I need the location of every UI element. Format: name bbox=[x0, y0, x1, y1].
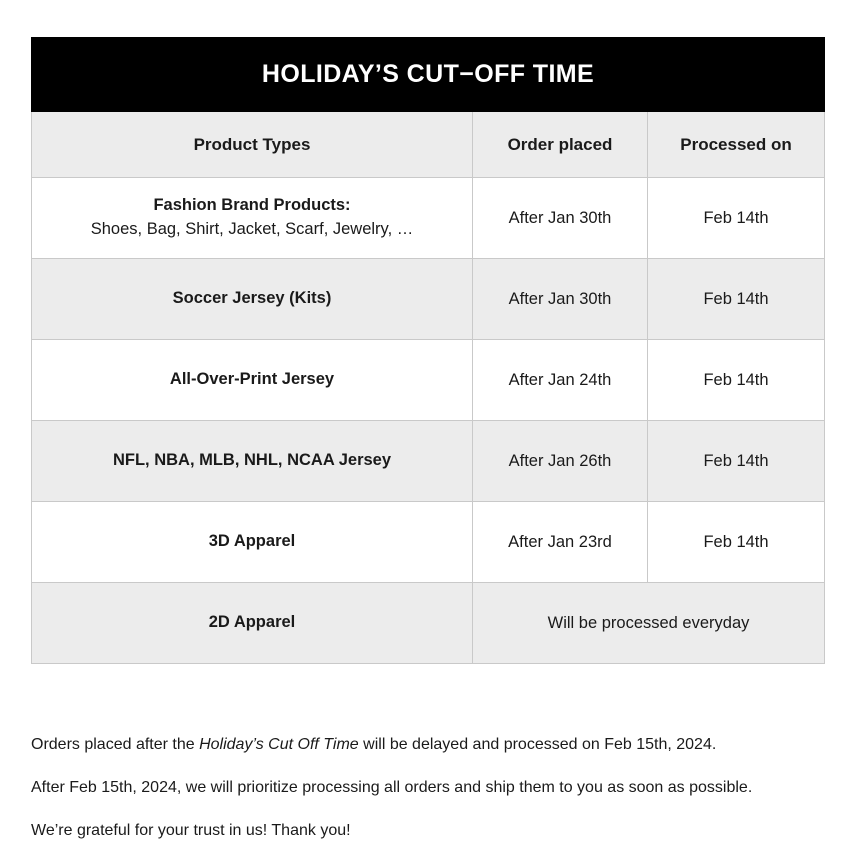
table-title-row: HOLIDAY’S CUT−OFF TIME bbox=[32, 38, 825, 112]
cutoff-time-table: HOLIDAY’S CUT−OFF TIME Product Types Ord… bbox=[31, 37, 825, 664]
cell-product-type: All-Over-Print Jersey bbox=[32, 340, 473, 421]
product-name: Fashion Brand Products: bbox=[153, 196, 350, 214]
holiday-cutoff-page: HOLIDAY’S CUT−OFF TIME Product Types Ord… bbox=[0, 0, 859, 862]
note-line-2: After Feb 15th, 2024, we will prioritize… bbox=[31, 778, 831, 798]
footer-notes: Orders placed after the Holiday’s Cut Of… bbox=[31, 735, 831, 841]
table-row: All-Over-Print Jersey After Jan 24th Feb… bbox=[32, 340, 825, 421]
cell-order-placed: After Jan 24th bbox=[473, 340, 648, 421]
cell-product-type: NFL, NBA, MLB, NHL, NCAA Jersey bbox=[32, 421, 473, 502]
table-row: 2D Apparel Will be processed everyday bbox=[32, 583, 825, 664]
table-title-cell: HOLIDAY’S CUT−OFF TIME bbox=[32, 38, 825, 112]
cell-order-placed: After Jan 30th bbox=[473, 259, 648, 340]
cell-order-placed: After Jan 26th bbox=[473, 421, 648, 502]
note-1-before: Orders placed after the bbox=[31, 736, 199, 753]
cell-processed-on: Feb 14th bbox=[648, 502, 825, 583]
column-header-processed-on: Processed on bbox=[648, 112, 825, 178]
table-head: HOLIDAY’S CUT−OFF TIME Product Types Ord… bbox=[32, 38, 825, 178]
cell-merged-schedule: Will be processed everyday bbox=[473, 583, 825, 664]
table-row: 3D Apparel After Jan 23rd Feb 14th bbox=[32, 502, 825, 583]
cell-order-placed: After Jan 30th bbox=[473, 178, 648, 259]
cell-processed-on: Feb 14th bbox=[648, 421, 825, 502]
note-line-3: We’re grateful for your trust in us! Tha… bbox=[31, 821, 831, 841]
table-row: Fashion Brand Products: Shoes, Bag, Shir… bbox=[32, 178, 825, 259]
note-line-1: Orders placed after the Holiday’s Cut Of… bbox=[31, 735, 831, 755]
table-row: NFL, NBA, MLB, NHL, NCAA Jersey After Ja… bbox=[32, 421, 825, 502]
table-row: Soccer Jersey (Kits) After Jan 30th Feb … bbox=[32, 259, 825, 340]
page-title: HOLIDAY’S CUT−OFF TIME bbox=[262, 60, 594, 88]
column-header-order-placed: Order placed bbox=[473, 112, 648, 178]
column-header-product-types: Product Types bbox=[32, 112, 473, 178]
note-1-after: will be delayed and processed on Feb 15t… bbox=[359, 736, 717, 753]
cell-processed-on: Feb 14th bbox=[648, 259, 825, 340]
cell-product-type: Soccer Jersey (Kits) bbox=[32, 259, 473, 340]
cell-product-type: 2D Apparel bbox=[32, 583, 473, 664]
cell-order-placed: After Jan 23rd bbox=[473, 502, 648, 583]
product-examples: Shoes, Bag, Shirt, Jacket, Scarf, Jewelr… bbox=[32, 218, 472, 242]
cell-product-type: 3D Apparel bbox=[32, 502, 473, 583]
table-body: Fashion Brand Products: Shoes, Bag, Shir… bbox=[32, 178, 825, 664]
note-1-emphasis: Holiday’s Cut Off Time bbox=[199, 736, 359, 753]
cell-product-type: Fashion Brand Products: Shoes, Bag, Shir… bbox=[32, 178, 473, 259]
cell-processed-on: Feb 14th bbox=[648, 340, 825, 421]
column-header-row: Product Types Order placed Processed on bbox=[32, 112, 825, 178]
cell-processed-on: Feb 14th bbox=[648, 178, 825, 259]
